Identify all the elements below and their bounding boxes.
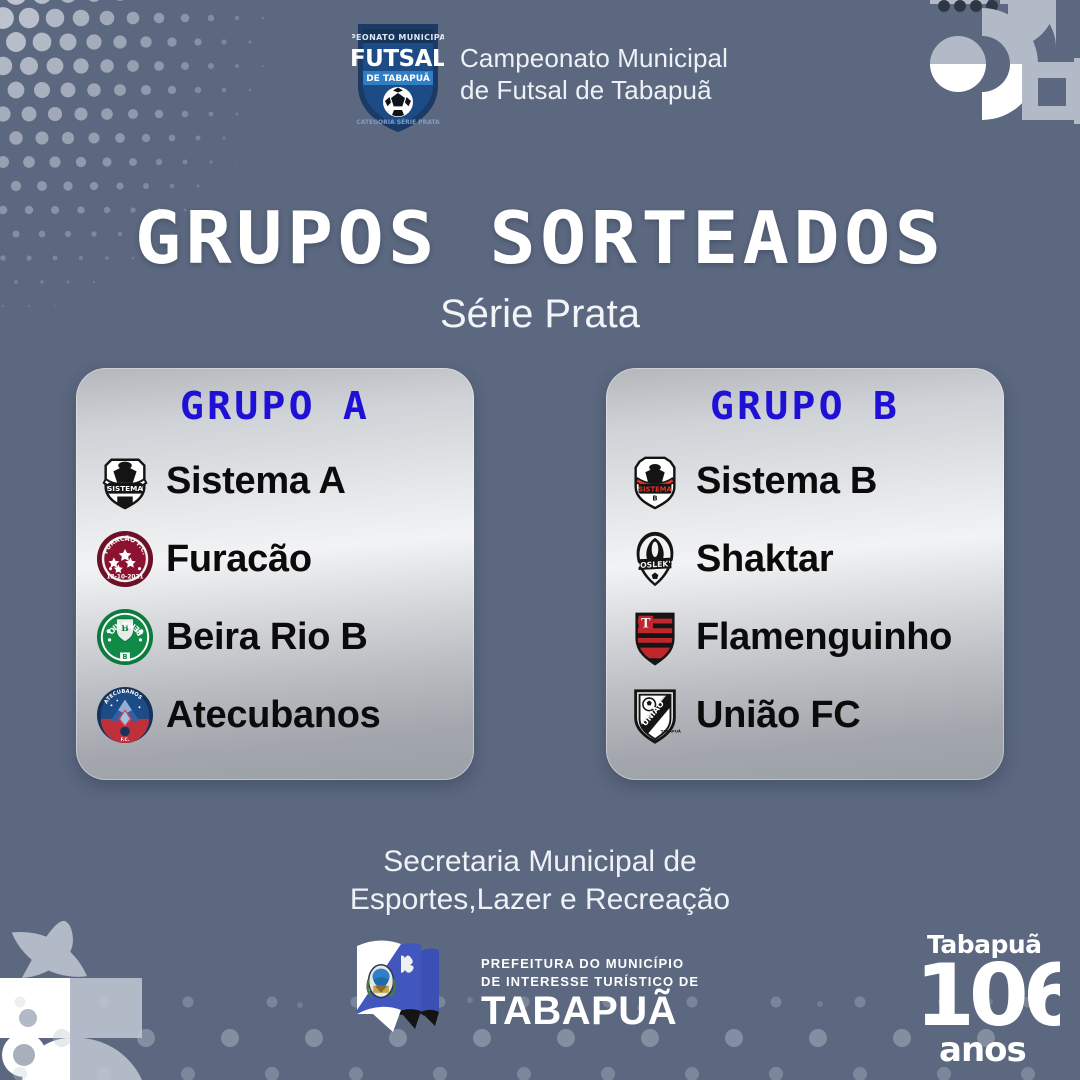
uniao-fc-crest-icon: FC UNIÃO TABAPUÃ [626, 686, 684, 744]
team-row[interactable]: T Flamenguinho [606, 598, 1004, 676]
tabapua-flags-icon [345, 940, 475, 1045]
svg-text:anos: anos [939, 1030, 1026, 1070]
furacao-fc-crest-icon: FURACÃO F.C. 12-10-2021 [96, 530, 154, 588]
tabapua-106-anos-icon: Tabapuã 106 anos [905, 925, 1060, 1070]
page-title: GRUPOS SORTEADOS [0, 196, 1080, 280]
team-name: Furacão [166, 538, 312, 581]
team-name: União FC [696, 694, 860, 737]
team-row[interactable]: SISTEMA Sistema A [76, 442, 474, 520]
svg-text:DOSLEK'S: DOSLEK'S [634, 559, 677, 570]
prefeitura-city: TABAPUÃ [481, 992, 699, 1030]
flamenguinho-crest-icon: T [626, 608, 684, 666]
sistema-b-crest-icon: SISTEMA B [626, 452, 684, 510]
svg-text:12-10-2021: 12-10-2021 [106, 574, 143, 580]
team-row[interactable]: SISTEMA B Sistema B [606, 442, 1004, 520]
svg-text:T: T [641, 615, 651, 630]
secretaria-line1: Secretaria Municipal de [0, 843, 1080, 881]
group-b-title: GRUPO B [596, 384, 1014, 428]
svg-text:B: B [652, 494, 657, 502]
atecubanos-fc-crest-icon: ATECUBANOS F.C. [96, 686, 154, 744]
groups-container: GRUPO A SISTEMA Sistema A [0, 368, 1080, 780]
prefeitura-line2: DE INTERESSE TURÍSTICO DE [481, 973, 699, 991]
team-name: Beira Rio B [166, 616, 368, 659]
team-row[interactable]: ATECUBANOS F.C. Atecubanos [76, 676, 474, 754]
event-header: CAMPEONATO MUNICIPAL DE FUTSAL DE TABAPU… [0, 16, 1080, 134]
sistema-a-crest-icon: SISTEMA [96, 452, 154, 510]
team-row[interactable]: B BEIRA RIO B Beira Rio B [76, 598, 474, 676]
svg-text:SISTEMA: SISTEMA [107, 484, 143, 493]
prefeitura-line1: PREFEITURA DO MUNICÍPIO [481, 955, 699, 973]
svg-text:CAMPEONATO MUNICIPAL DE: CAMPEONATO MUNICIPAL DE [352, 33, 444, 42]
team-name: Flamenguinho [696, 616, 952, 659]
secretaria-text: Secretaria Municipal de Esportes,Lazer e… [0, 843, 1080, 918]
header-title-line1: Campeonato Municipal [460, 43, 728, 75]
group-panel-a: GRUPO A SISTEMA Sistema A [76, 368, 474, 780]
page-subtitle: Série Prata [0, 292, 1080, 337]
svg-text:DE TABAPUÃ: DE TABAPUÃ [366, 73, 430, 84]
team-name: Sistema A [166, 460, 346, 503]
secretaria-line2: Esportes,Lazer e Recreação [0, 881, 1080, 919]
svg-text:FUTSAL: FUTSAL [352, 46, 444, 72]
prefeitura-lockup: PREFEITURA DO MUNICÍPIO DE INTERESSE TUR… [345, 940, 699, 1045]
title-block: GRUPOS SORTEADOS Série Prata [0, 196, 1080, 337]
geometric-shapes-bottomleft [0, 911, 142, 1080]
svg-text:CATEGORIA SÉRIE PRATA: CATEGORIA SÉRIE PRATA [356, 118, 440, 126]
header-title-line2: de Futsal de Tabapuã [460, 75, 728, 107]
svg-text:F.C.: F.C. [121, 737, 130, 743]
team-name: Sistema B [696, 460, 877, 503]
group-a-title: GRUPO A [66, 384, 484, 428]
group-panel-b: GRUPO B SISTEMA B Sistema B [606, 368, 1004, 780]
svg-text:TABAPUÃ: TABAPUÃ [661, 728, 681, 733]
team-row[interactable]: FC UNIÃO TABAPUÃ União FC [606, 676, 1004, 754]
team-name: Shaktar [696, 538, 833, 581]
shaktar-dosleks-crest-icon: DOSLEK'S [626, 530, 684, 588]
team-row[interactable]: FURACÃO F.C. 12-10-2021 Furacão [76, 520, 474, 598]
team-row[interactable]: DOSLEK'S Shaktar [606, 520, 1004, 598]
svg-text:SISTEMA: SISTEMA [638, 486, 672, 494]
group-b-team-list: SISTEMA B Sistema B DOSLEK'S Shaktar [606, 442, 1004, 754]
svg-text:B: B [122, 653, 127, 661]
group-a-team-list: SISTEMA Sistema A FURACÃO F.C. [76, 442, 474, 754]
beira-rio-crest-icon: B BEIRA RIO B [96, 608, 154, 666]
futsal-shield-crest-icon: CAMPEONATO MUNICIPAL DE FUTSAL DE TABAPU… [352, 16, 444, 134]
team-name: Atecubanos [166, 694, 380, 737]
